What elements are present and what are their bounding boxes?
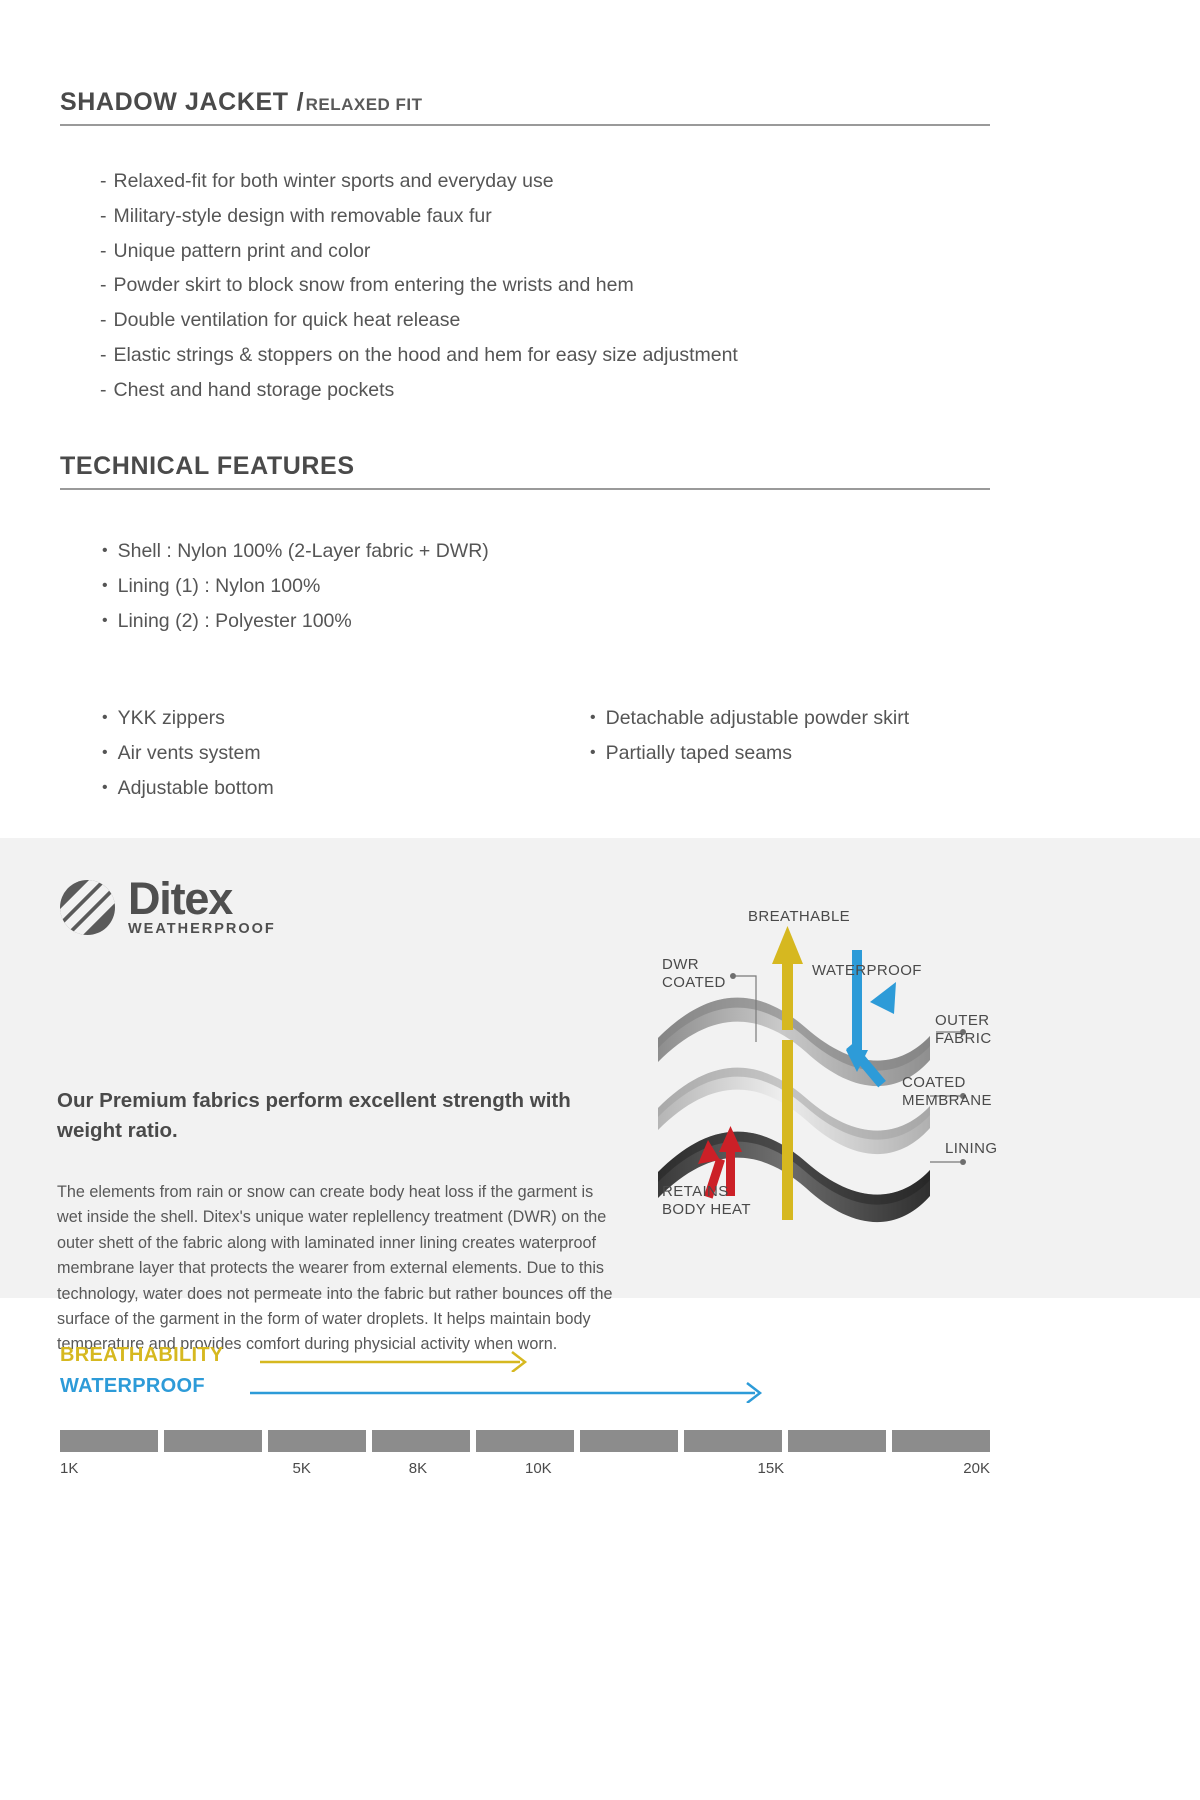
waterproof-arrow-icon [60,1377,990,1403]
list-item-text: YKK zippers [118,707,225,729]
scale-segment [580,1430,678,1452]
product-fit-label: RELAXED FIT [306,95,423,114]
scale-tick-label: 1K [60,1460,78,1477]
list-item: -Unique pattern print and color [100,234,1030,269]
list-item: -Chest and hand storage pockets [100,373,1030,408]
list-item: -Double ventilation for quick heat relea… [100,303,1030,338]
feature-text: Military-style design with removable fau… [114,205,492,227]
performance-rating-scale: BREATHABILITY WATERPROOF 1K5K8K10K15K20K [0,1330,1200,1530]
bullet-marker: • [590,744,596,761]
product-title-header: SHADOW JACKET/RELAXED FIT [60,88,990,126]
list-item: -Powder skirt to block snow from enterin… [100,268,1030,303]
list-item-text: Shell : Nylon 100% (2-Layer fabric + DWR… [118,540,489,562]
brand-tagline: WEATHERPROOF [128,921,276,937]
scale-segment [476,1430,574,1452]
scale-tick-label: 10K [525,1460,552,1477]
list-item: •Air vents system [102,736,274,771]
list-item-text: Detachable adjustable powder skirt [606,707,910,729]
feature-text: Double ventilation for quick heat releas… [114,309,461,331]
dash-marker: - [100,205,107,227]
list-item: -Military-style design with removable fa… [100,199,1030,234]
scale-segment [268,1430,366,1452]
list-item: •Lining (2) : Polyester 100% [102,604,702,639]
feature-text: Elastic strings & stoppers on the hood a… [114,344,738,366]
page-title: SHADOW JACKET [60,88,289,116]
label-outer-fabric: OUTERFABRIC [935,1012,992,1048]
material-composition-list: •Shell : Nylon 100% (2-Layer fabric + DW… [62,534,702,638]
scale-tick-label: 20K [963,1460,990,1477]
bullet-marker: • [102,577,108,594]
bullet-marker: • [102,744,108,761]
scale-segment [788,1430,886,1452]
scale-segment [60,1430,158,1452]
scale-tick-label: 8K [409,1460,427,1477]
dash-marker: - [100,170,107,192]
technical-column-left: •YKK zippers•Air vents system•Adjustable… [62,701,274,805]
rating-scale-bar: 1K5K8K10K15K20K [60,1430,990,1452]
title-separator: / [297,88,304,116]
list-item: •Adjustable bottom [102,771,274,806]
list-item-text: Lining (1) : Nylon 100% [118,575,321,597]
scale-tick-label: 15K [758,1460,785,1477]
label-retains-body-heat: RETAINSBODY HEAT [662,1183,751,1219]
list-item: •YKK zippers [102,701,274,736]
scale-segment [892,1430,990,1452]
dash-marker: - [100,274,107,296]
striped-circle-icon [60,880,115,935]
scale-segment [164,1430,262,1452]
label-breathable: BREATHABLE [748,908,850,926]
technical-features-header: TECHNICAL FEATURES [60,452,990,490]
dash-marker: - [100,379,107,401]
list-item: -Elastic strings & stoppers on the hood … [100,338,1030,373]
label-coated-membrane: COATEDMEMBRANE [902,1074,992,1110]
label-waterproof: WATERPROOF [812,962,922,980]
bullet-marker: • [102,612,108,629]
dash-marker: - [100,344,107,366]
list-item-text: Lining (2) : Polyester 100% [118,610,352,632]
scale-tick-label: 5K [293,1460,311,1477]
list-item: -Relaxed-fit for both winter sports and … [100,164,1030,199]
brand-name: Ditex [128,877,276,921]
bullet-marker: • [590,709,596,726]
product-spec-page: SHADOW JACKET/RELAXED FIT -Relaxed-fit f… [0,0,1200,1800]
fabric-layer-diagram: BREATHABLE WATERPROOF DWRCOATED OUTERFAB… [630,890,1050,1290]
list-item: •Lining (1) : Nylon 100% [102,569,702,604]
label-lining: LINING [945,1140,997,1158]
dash-marker: - [100,309,107,331]
scale-segment [372,1430,470,1452]
feature-text: Unique pattern print and color [114,240,371,262]
technical-features-title: TECHNICAL FEATURES [60,452,355,480]
product-feature-list: -Relaxed-fit for both winter sports and … [60,164,1030,408]
list-item: •Shell : Nylon 100% (2-Layer fabric + DW… [102,534,702,569]
ditex-logo: Ditex WEATHERPROOF [60,877,276,937]
feature-text: Powder skirt to block snow from entering… [114,274,634,296]
brand-lead-text: Our Premium fabrics perform excellent st… [57,1086,617,1146]
breathability-arrow-icon [60,1346,990,1372]
feature-text: Chest and hand storage pockets [114,379,395,401]
list-item: •Detachable adjustable powder skirt [590,701,909,736]
list-item: •Partially taped seams [590,736,909,771]
bullet-marker: • [102,542,108,559]
list-item-text: Partially taped seams [606,742,792,764]
label-dwr-coated: DWRCOATED [662,956,726,992]
scale-segment [684,1430,782,1452]
feature-text: Relaxed-fit for both winter sports and e… [114,170,554,192]
list-item-text: Adjustable bottom [118,777,274,799]
list-item-text: Air vents system [118,742,261,764]
bullet-marker: • [102,779,108,796]
dash-marker: - [100,240,107,262]
technical-column-right: •Detachable adjustable powder skirt•Part… [550,701,909,771]
bullet-marker: • [102,709,108,726]
